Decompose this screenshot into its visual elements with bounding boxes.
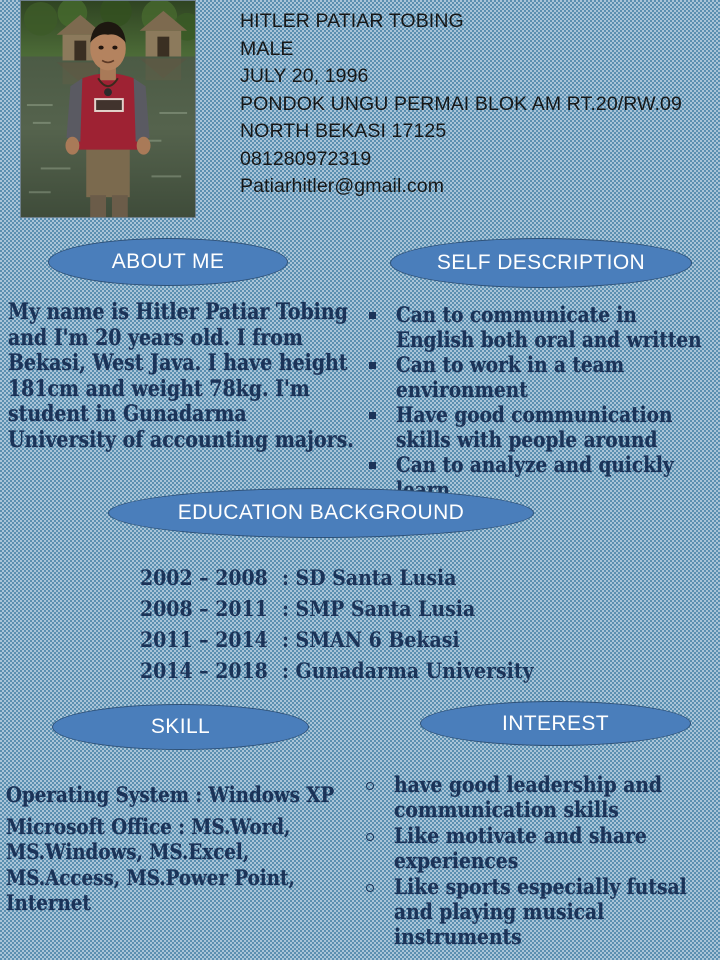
about-me-body: My name is Hitler Patiar Tobing and I'm … (8, 300, 360, 453)
list-item-text: Can to work in a team environment (396, 353, 714, 402)
list-item-text: Like sports especially futsal and playin… (394, 874, 714, 949)
section-title-skill: SKILL (151, 715, 210, 739)
list-item: Like motivate and share experiences (362, 823, 716, 873)
table-row: 2014 – 2018 : Gunadarma University (140, 655, 562, 686)
skill-row-text: Operating System : Windows XP (6, 782, 363, 808)
education-years: 2011 – 2014 (140, 624, 282, 655)
section-title-education-background: EDUCATION BACKGROUND (178, 501, 464, 525)
candidate-name: HITLER PATIAR TOBING (240, 8, 718, 36)
section-banner-self-description: SELF DESCRIPTION (390, 238, 692, 288)
section-banner-skill: SKILL (52, 704, 309, 750)
circle-bullet-icon (366, 833, 374, 841)
education-institution: : SMAN 6 Bekasi (282, 624, 562, 655)
education-institution: : SMP Santa Lusia (282, 593, 562, 624)
section-banner-about-me: ABOUT ME (48, 238, 288, 286)
list-item: Have good communication skills with peop… (366, 403, 714, 452)
square-bullet-icon (369, 312, 376, 319)
section-title-interest: INTEREST (502, 712, 609, 736)
candidate-birthdate: JULY 20, 1996 (240, 63, 718, 91)
candidate-email: Patiarhitler@gmail.com (240, 173, 718, 201)
section-title-self-description: SELF DESCRIPTION (437, 251, 645, 275)
list-item: have good leadership and communication s… (362, 772, 716, 822)
education-table: 2002 – 2008 : SD Santa Lusia 2008 – 2011… (140, 562, 562, 686)
table-row: 2011 – 2014 : SMAN 6 Bekasi (140, 624, 562, 655)
education-institution: : SD Santa Lusia (282, 562, 562, 593)
list-item-text: have good leadership and communication s… (394, 772, 714, 822)
candidate-address-line-1: PONDOK UNGU PERMAI BLOK AM RT.20/RW.09 (240, 91, 718, 119)
square-bullet-icon (369, 412, 376, 419)
candidate-gender: MALE (240, 36, 718, 64)
profile-photo-image (21, 1, 195, 217)
education-years: 2002 – 2008 (140, 562, 282, 593)
square-bullet-icon (369, 462, 376, 469)
interest-list: have good leadership and communication s… (362, 772, 716, 950)
candidate-phone: 081280972319 (240, 146, 718, 174)
circle-bullet-icon (366, 884, 374, 892)
list-item-text: Have good communication skills with peop… (396, 403, 714, 452)
section-title-about-me: ABOUT ME (112, 250, 225, 274)
list-item: Can to work in a team environment (366, 353, 714, 402)
skill-row-text: Microsoft Office : MS.Word, MS.Windows, … (6, 814, 363, 916)
circle-bullet-icon (366, 782, 374, 790)
list-item-text: Like motivate and share experiences (394, 823, 714, 873)
list-item: Like sports especially futsal and playin… (362, 874, 716, 949)
self-description-list: Can to communicate in English both oral … (366, 303, 714, 503)
square-bullet-icon (369, 362, 376, 369)
education-institution: : Gunadarma University (282, 655, 562, 686)
education-years: 2008 – 2011 (140, 593, 282, 624)
contact-info-block: HITLER PATIAR TOBING MALE JULY 20, 1996 … (240, 8, 718, 201)
skill-row: Operating System : Windows XP (6, 782, 364, 808)
cv-page: HITLER PATIAR TOBING MALE JULY 20, 1996 … (0, 0, 720, 960)
about-me-paragraph: My name is Hitler Patiar Tobing and I'm … (8, 300, 355, 453)
list-item: Can to communicate in English both oral … (366, 303, 714, 352)
profile-photo (20, 0, 196, 218)
list-item-text: Can to communicate in English both oral … (396, 303, 714, 352)
education-years: 2014 – 2018 (140, 655, 282, 686)
skill-row: Microsoft Office : MS.Word, MS.Windows, … (6, 814, 364, 916)
table-row: 2002 – 2008 : SD Santa Lusia (140, 562, 562, 593)
table-row: 2008 – 2011 : SMP Santa Lusia (140, 593, 562, 624)
section-banner-education-background: EDUCATION BACKGROUND (108, 488, 534, 538)
candidate-address-line-2: NORTH BEKASI 17125 (240, 118, 718, 146)
skill-body: Operating System : Windows XP Microsoft … (6, 782, 364, 922)
section-banner-interest: INTEREST (420, 701, 691, 746)
